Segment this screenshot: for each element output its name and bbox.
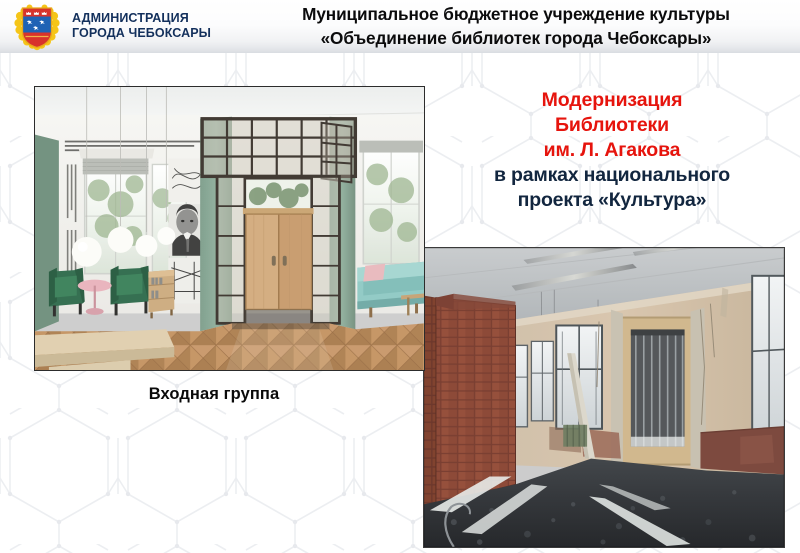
render-photo-caption: Входная группа: [34, 385, 394, 404]
headline-line-2: Библиотеки: [432, 113, 792, 138]
administration-line-2: ГОРОДА ЧЕБОКСАРЫ: [72, 26, 242, 41]
organization-title: Муниципальное бюджетное учреждение культ…: [232, 2, 800, 50]
organization-title-line-1: Муниципальное бюджетное учреждение культ…: [232, 2, 800, 26]
slide-headline: Модернизация Библиотеки им. Л. Агакова в…: [432, 88, 792, 213]
organization-title-line-2: «Объединение библиотек города Чебоксары»: [232, 26, 800, 50]
headline-line-3: им. Л. Агакова: [432, 138, 792, 163]
administration-label: АДМИНИСТРАЦИЯ ГОРОДА ЧЕБОКСАРЫ: [72, 11, 242, 40]
administration-line-1: АДМИНИСТРАЦИЯ: [72, 11, 242, 26]
coat-of-arms-icon: [11, 2, 63, 51]
library-entrance-render-photo: [34, 86, 425, 371]
slide-canvas: АДМИНИСТРАЦИЯ ГОРОДА ЧЕБОКСАРЫ Муниципал…: [0, 0, 800, 553]
library-renovation-photo: [423, 247, 785, 548]
header-band: АДМИНИСТРАЦИЯ ГОРОДА ЧЕБОКСАРЫ Муниципал…: [0, 0, 800, 53]
headline-line-1: Модернизация: [432, 88, 792, 113]
headline-line-4: в рамках национального: [432, 163, 792, 188]
headline-line-5: проекта «Культура»: [432, 188, 792, 213]
